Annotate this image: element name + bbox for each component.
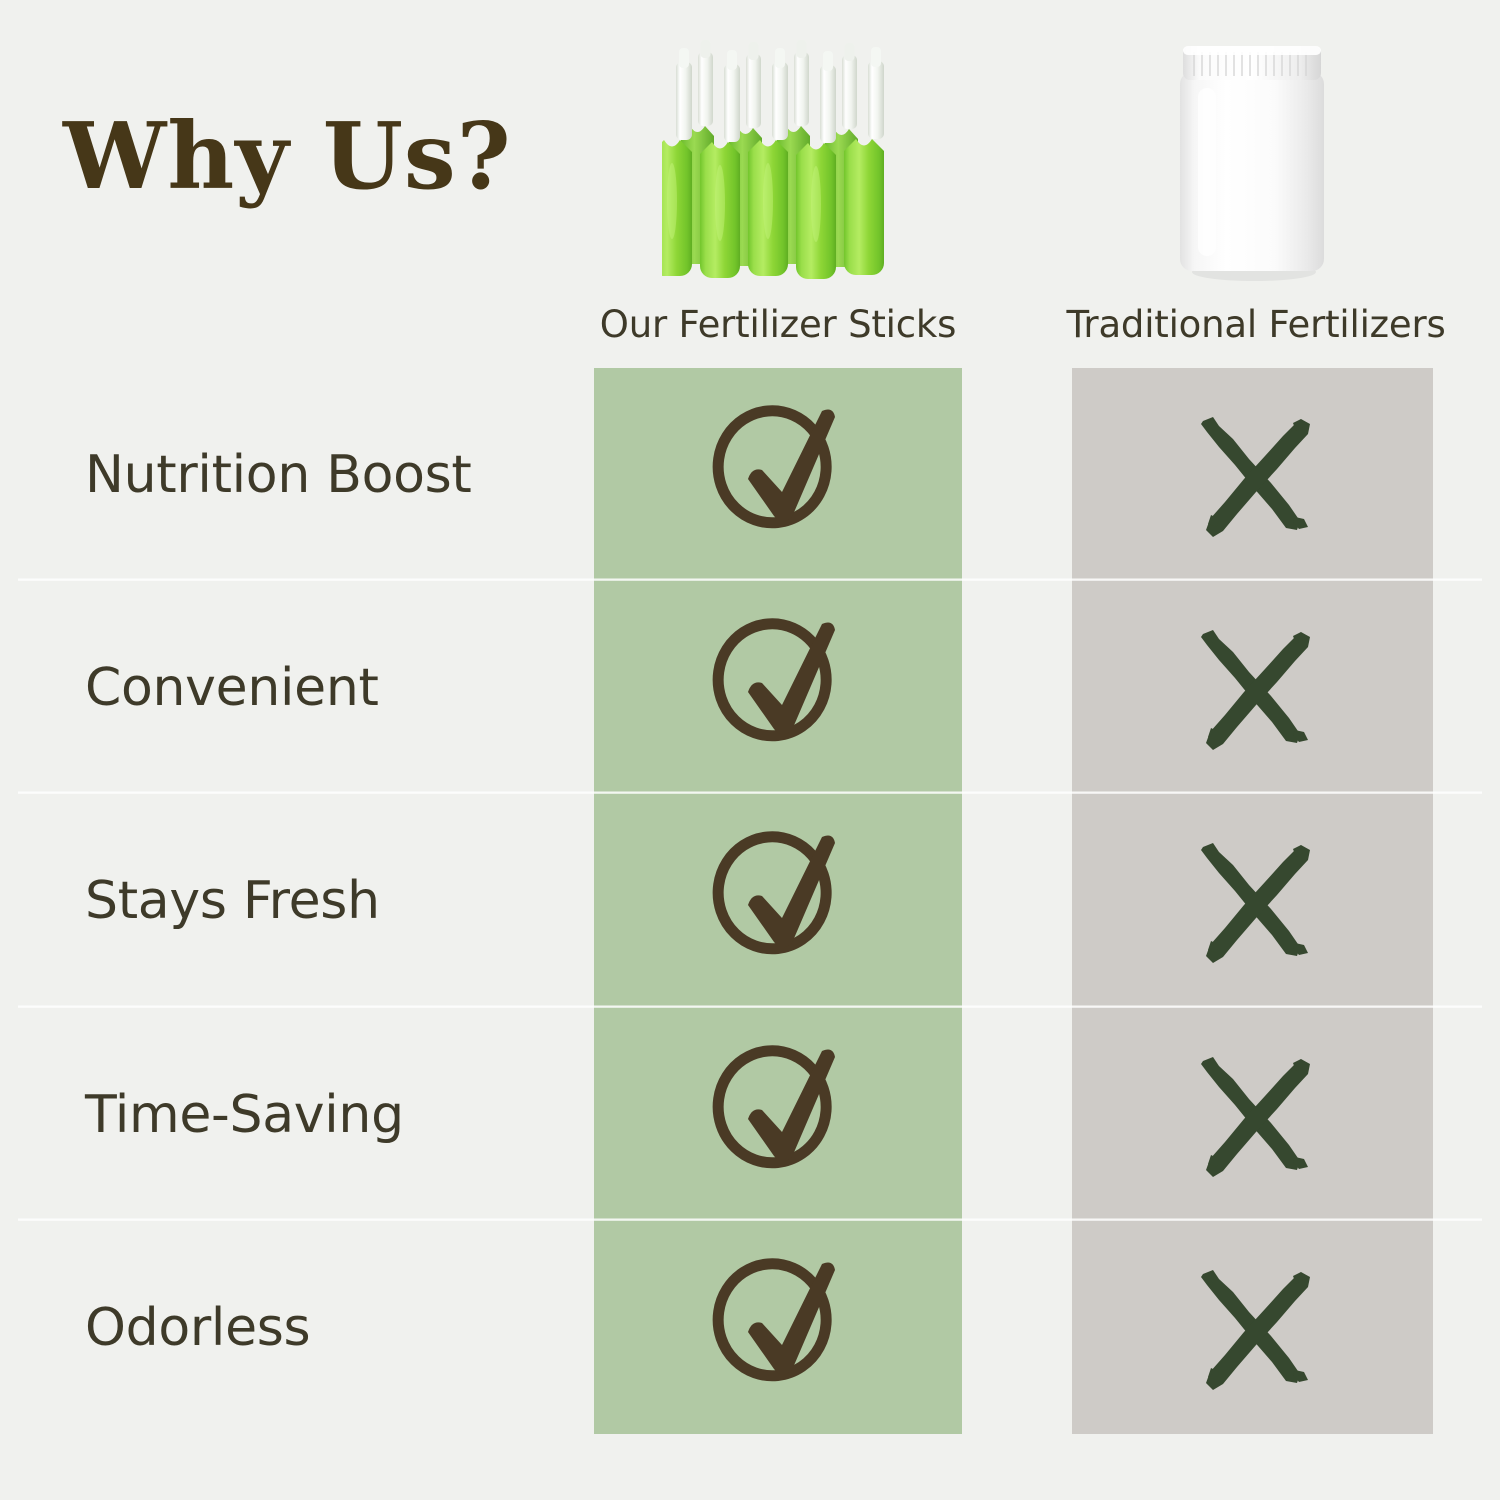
cell-ours-check	[594, 395, 962, 555]
table-row: Nutrition Boost	[0, 368, 1500, 581]
feature-label: Time-Saving	[85, 1085, 404, 1145]
traditional-bottle-image	[1168, 28, 1336, 284]
cell-ours-check	[594, 1035, 962, 1195]
cross-brush-icon	[1183, 405, 1323, 545]
row-divider	[18, 578, 1482, 581]
feature-label: Odorless	[85, 1298, 310, 1358]
feature-label: Convenient	[85, 658, 379, 718]
comparison-infographic: Why Us?	[0, 0, 1500, 1500]
cross-brush-icon	[1183, 1258, 1323, 1398]
check-circle-icon	[700, 1252, 856, 1404]
cross-brush-icon	[1183, 831, 1323, 971]
table-row: Convenient	[0, 581, 1500, 794]
check-circle-icon	[700, 825, 856, 977]
cell-traditional-cross	[1072, 608, 1433, 768]
page-title: Why Us?	[63, 110, 512, 202]
cell-traditional-cross	[1072, 1248, 1433, 1408]
cell-ours-check	[594, 1248, 962, 1408]
cell-traditional-cross	[1072, 821, 1433, 981]
cross-brush-icon	[1183, 1045, 1323, 1185]
table-row: Time-Saving	[0, 1008, 1500, 1221]
cell-traditional-cross	[1072, 1035, 1433, 1195]
column-header-ours: Our Fertilizer Sticks	[578, 303, 978, 346]
cell-traditional-cross	[1072, 395, 1433, 555]
column-header-traditional: Traditional Fertilizers	[1036, 303, 1476, 346]
fertilizer-sticks-image	[662, 26, 902, 284]
row-divider	[18, 1005, 1482, 1008]
row-divider	[18, 1218, 1482, 1221]
check-circle-icon	[700, 612, 856, 764]
check-circle-icon	[700, 1039, 856, 1191]
feature-label: Stays Fresh	[85, 871, 380, 931]
table-row: Stays Fresh	[0, 794, 1500, 1007]
cross-brush-icon	[1183, 618, 1323, 758]
cell-ours-check	[594, 821, 962, 981]
cell-ours-check	[594, 608, 962, 768]
check-circle-icon	[700, 399, 856, 551]
table-row: Odorless	[0, 1221, 1500, 1434]
row-divider	[18, 791, 1482, 794]
feature-label: Nutrition Boost	[85, 445, 472, 505]
